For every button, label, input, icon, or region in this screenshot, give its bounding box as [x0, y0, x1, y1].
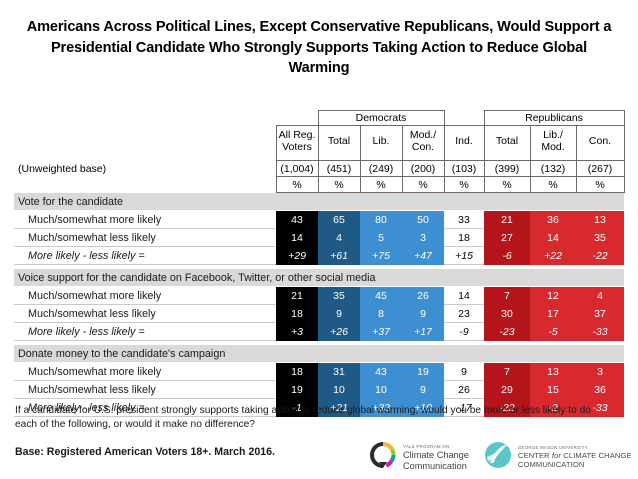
cell-rep_con: 35: [576, 229, 624, 247]
yale-mark-icon: [368, 440, 398, 475]
results-table: DemocratsRepublicansAll Reg.VotersTotalL…: [14, 110, 625, 417]
group-header-row: DemocratsRepublicans: [14, 111, 624, 126]
cell-rep_total: 21: [484, 211, 530, 229]
column-header-row: All Reg.VotersTotalLib.Mod./Con.Ind.Tota…: [14, 126, 624, 161]
percent-unit-row: %%%%%%%%: [14, 177, 624, 193]
cell-all: 43: [276, 211, 318, 229]
cell-all: +29: [276, 247, 318, 265]
spacer-cell: [444, 111, 484, 126]
unweighted-base-label: (Unweighted base): [14, 161, 276, 177]
cell-dem_lib: +75: [360, 247, 402, 265]
logo-row: Yale Program on Climate Change Communica…: [368, 440, 632, 475]
table-row: Much/somewhat more likely436580503321361…: [14, 211, 624, 229]
cell-rep_total: 29: [484, 381, 530, 399]
percent-unit-rep_libmod: %: [530, 177, 576, 193]
cell-rep_total: -23: [484, 323, 530, 341]
cell-rep_libmod: 36: [530, 211, 576, 229]
cell-dem_lib: 8: [360, 305, 402, 323]
cell-rep_libmod: +22: [530, 247, 576, 265]
table-row: Much/somewhat less likely191010926291536: [14, 381, 624, 399]
base-value-all: (1,004): [276, 161, 318, 177]
cell-dem_mod: 9: [402, 305, 444, 323]
row-label: More likely - less likely =: [14, 323, 276, 341]
group-header-democrats: Democrats: [318, 111, 444, 126]
row-label: Much/somewhat less likely: [14, 305, 276, 323]
cell-dem_lib: +37: [360, 323, 402, 341]
percent-unit-rep_total: %: [484, 177, 530, 193]
yale-logo: Yale Program on Climate Change Communica…: [368, 440, 469, 475]
gmu-mark-icon: [483, 440, 513, 475]
cell-all: 18: [276, 305, 318, 323]
cell-dem_total: 9: [318, 305, 360, 323]
percent-unit-dem_mod: %: [402, 177, 444, 193]
cell-rep_libmod: 12: [530, 287, 576, 305]
cell-ind: 26: [444, 381, 484, 399]
percent-unit-dem_lib: %: [360, 177, 402, 193]
section-header-row: Donate money to the candidate's campaign: [14, 345, 624, 363]
column-header-dem_lib: Lib.: [360, 126, 402, 161]
header-label-cell: [14, 126, 276, 161]
cell-dem_lib: 5: [360, 229, 402, 247]
cell-dem_mod: 26: [402, 287, 444, 305]
column-header-dem_mod: Mod./Con.: [402, 126, 444, 161]
base-value-dem_lib: (249): [360, 161, 402, 177]
column-header-ind: Ind.: [444, 126, 484, 161]
base-value-ind: (103): [444, 161, 484, 177]
section-header-row: Vote for the candidate: [14, 193, 624, 211]
cell-dem_mod: 50: [402, 211, 444, 229]
gmu-logo-line2: COMMUNICATION: [518, 461, 632, 470]
cell-rep_con: 4: [576, 287, 624, 305]
cell-rep_libmod: 15: [530, 381, 576, 399]
cell-dem_mod: 9: [402, 381, 444, 399]
cell-dem_lib: 43: [360, 363, 402, 381]
cell-rep_libmod: 17: [530, 305, 576, 323]
table-row: Much/somewhat more likely21354526147124: [14, 287, 624, 305]
cell-dem_total: +61: [318, 247, 360, 265]
cell-all: 14: [276, 229, 318, 247]
results-table-wrapper: DemocratsRepublicansAll Reg.VotersTotalL…: [14, 110, 624, 417]
page-title: Americans Across Political Lines, Except…: [0, 0, 638, 79]
base-value-rep_libmod: (132): [530, 161, 576, 177]
column-header-rep_con: Con.: [576, 126, 624, 161]
yale-logo-line2: Communication: [403, 461, 469, 472]
table-row: Much/somewhat less likely1898923301737: [14, 305, 624, 323]
spacer-cell: [14, 111, 276, 126]
cell-ind: 33: [444, 211, 484, 229]
percent-unit-rep_con: %: [576, 177, 624, 193]
base-row: (Unweighted base)(1,004)(451)(249)(200)(…: [14, 161, 624, 177]
yale-logo-line1: Climate Change: [403, 450, 469, 461]
gmu-logo-text: George Mason University CENTER for CLIMA…: [518, 445, 632, 469]
base-value-rep_con: (267): [576, 161, 624, 177]
base-value-dem_mod: (200): [402, 161, 444, 177]
cell-ind: 18: [444, 229, 484, 247]
section-title: Voice support for the candidate on Faceb…: [14, 269, 624, 287]
section-title: Donate money to the candidate's campaign: [14, 345, 624, 363]
cell-rep_libmod: -5: [530, 323, 576, 341]
row-label: Much/somewhat more likely: [14, 287, 276, 305]
cell-dem_mod: 19: [402, 363, 444, 381]
row-label: Much/somewhat less likely: [14, 229, 276, 247]
cell-rep_con: 36: [576, 381, 624, 399]
cell-ind: 14: [444, 287, 484, 305]
yale-logo-kicker: Yale Program on: [403, 444, 469, 449]
spacer-cell: [276, 111, 318, 126]
cell-ind: +15: [444, 247, 484, 265]
row-label: More likely - less likely =: [14, 247, 276, 265]
cell-rep_con: 37: [576, 305, 624, 323]
cell-dem_lib: 10: [360, 381, 402, 399]
cell-rep_total: 7: [484, 287, 530, 305]
column-header-all: All Reg.Voters: [276, 126, 318, 161]
cell-all: 18: [276, 363, 318, 381]
percent-unit-dem_total: %: [318, 177, 360, 193]
column-header-rep_total: Total: [484, 126, 530, 161]
cell-dem_total: 31: [318, 363, 360, 381]
cell-dem_total: 4: [318, 229, 360, 247]
cell-dem_total: +26: [318, 323, 360, 341]
cell-dem_total: 35: [318, 287, 360, 305]
cell-dem_lib: 45: [360, 287, 402, 305]
cell-all: 21: [276, 287, 318, 305]
row-label: Much/somewhat more likely: [14, 211, 276, 229]
cell-rep_con: 13: [576, 211, 624, 229]
cell-rep_libmod: 13: [530, 363, 576, 381]
cell-ind: 23: [444, 305, 484, 323]
row-label: Much/somewhat less likely: [14, 381, 276, 399]
cell-ind: -9: [444, 323, 484, 341]
cell-dem_mod: +47: [402, 247, 444, 265]
table-row: Much/somewhat more likely1831431997133: [14, 363, 624, 381]
cell-all: +3: [276, 323, 318, 341]
row-label: Much/somewhat more likely: [14, 363, 276, 381]
section-title: Vote for the candidate: [14, 193, 624, 211]
table-row: More likely - less likely =+3+26+37+17-9…: [14, 323, 624, 341]
base-value-dem_total: (451): [318, 161, 360, 177]
cell-rep_con: -22: [576, 247, 624, 265]
cell-ind: 9: [444, 363, 484, 381]
column-header-dem_total: Total: [318, 126, 360, 161]
percent-unit-ind: %: [444, 177, 484, 193]
cell-rep_con: -33: [576, 323, 624, 341]
percent-unit-all: %: [276, 177, 318, 193]
table-row: More likely - less likely =+29+61+75+47+…: [14, 247, 624, 265]
table-row: Much/somewhat less likely1445318271435: [14, 229, 624, 247]
cell-rep_total: -6: [484, 247, 530, 265]
yale-logo-text: Yale Program on Climate Change Communica…: [403, 444, 469, 472]
percent-label-cell: [14, 177, 276, 193]
cell-rep_total: 7: [484, 363, 530, 381]
footer-base: Base: Registered American Voters 18+. Ma…: [15, 446, 275, 458]
cell-dem_total: 65: [318, 211, 360, 229]
group-header-republicans: Republicans: [484, 111, 624, 126]
footer-question: If a candidate for U.S. president strong…: [15, 404, 615, 433]
cell-dem_mod: 3: [402, 229, 444, 247]
base-value-rep_total: (399): [484, 161, 530, 177]
cell-dem_mod: +17: [402, 323, 444, 341]
cell-all: 19: [276, 381, 318, 399]
cell-rep_con: 3: [576, 363, 624, 381]
cell-dem_lib: 80: [360, 211, 402, 229]
gmu-logo-kicker: George Mason University: [518, 445, 632, 450]
cell-rep_libmod: 14: [530, 229, 576, 247]
cell-rep_total: 30: [484, 305, 530, 323]
cell-rep_total: 27: [484, 229, 530, 247]
cell-dem_total: 10: [318, 381, 360, 399]
gmu-logo: George Mason University CENTER for CLIMA…: [483, 440, 632, 475]
section-header-row: Voice support for the candidate on Faceb…: [14, 269, 624, 287]
column-header-rep_libmod: Lib./Mod.: [530, 126, 576, 161]
